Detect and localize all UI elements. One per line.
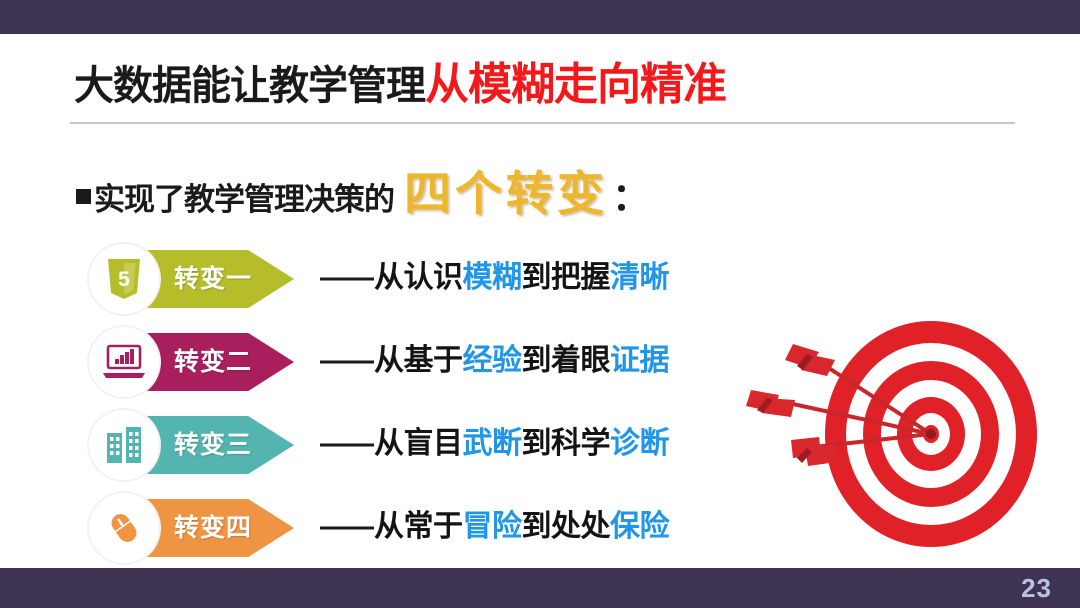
- row-seg-1: 从常于: [374, 510, 463, 543]
- row-dash: ——: [320, 427, 368, 460]
- subtitle-colon: ：: [612, 177, 650, 219]
- bullet-square-icon: [76, 189, 91, 204]
- row-seg-2-highlight: 冒险: [463, 510, 522, 543]
- subtitle: 实现了教学管理决策的四个转变：: [76, 155, 650, 224]
- row-seg-3: 到处处: [522, 510, 611, 543]
- list-item: 转变一 5 ——从认识模糊到把握清晰: [0, 238, 720, 321]
- transformation-list: 转变一 5 ——从认识模糊到把握清晰 转变二: [0, 238, 720, 570]
- row-seg-3: 到把握: [522, 261, 611, 294]
- row-seg-2-highlight: 模糊: [463, 261, 522, 294]
- page-number: 23: [1021, 573, 1052, 604]
- list-item: 转变三 ——从盲目武断: [0, 404, 720, 487]
- title-black-text: 大数据能让教学管理: [74, 64, 425, 108]
- svg-text:5: 5: [118, 268, 130, 291]
- dartboard-with-arrows-image: [735, 318, 1055, 553]
- top-band: [0, 0, 1080, 34]
- row-description: ——从常于冒险到处处保险: [320, 498, 669, 556]
- chevron-label: 转变四: [158, 499, 268, 557]
- row-seg-4-highlight: 证据: [610, 344, 669, 377]
- buildings-icon: [87, 408, 161, 482]
- list-item: 转变四 ——从常于冒险到处处保险: [0, 487, 720, 570]
- row-seg-1: 从基于: [374, 344, 463, 377]
- row-seg-2-highlight: 经验: [463, 344, 522, 377]
- row-dash: ——: [320, 344, 368, 377]
- row-seg-4-highlight: 诊断: [610, 427, 669, 460]
- row-description: ——从基于经验到着眼证据: [320, 332, 669, 390]
- html5-shield-icon: 5: [87, 242, 161, 316]
- row-description: ——从认识模糊到把握清晰: [320, 249, 669, 307]
- row-dash: ——: [320, 261, 368, 294]
- page-title: 大数据能让教学管理从模糊走向精准: [74, 48, 726, 112]
- title-divider: [70, 122, 1015, 124]
- row-seg-3: 到科学: [522, 427, 611, 460]
- row-seg-1: 从盲目: [374, 427, 463, 460]
- slide: 大数据能让教学管理从模糊走向精准 实现了教学管理决策的四个转变： 转变一 5 —…: [0, 0, 1080, 608]
- row-seg-2-highlight: 武断: [463, 427, 522, 460]
- subtitle-gold-text: 四个转变: [404, 167, 608, 220]
- row-dash: ——: [320, 510, 368, 543]
- laptop-chart-icon: [87, 325, 161, 399]
- chevron-label: 转变三: [158, 416, 268, 474]
- bottom-band: 23: [0, 568, 1080, 608]
- subtitle-black-text: 实现了教学管理决策的: [94, 182, 394, 217]
- row-seg-4-highlight: 清晰: [610, 261, 669, 294]
- chevron-label: 转变二: [158, 333, 268, 391]
- row-seg-4-highlight: 保险: [610, 510, 669, 543]
- row-seg-1: 从认识: [374, 261, 463, 294]
- chevron-label: 转变一: [158, 250, 268, 308]
- title-red-text: 从模糊走向精准: [425, 60, 726, 109]
- row-description: ——从盲目武断到科学诊断: [320, 415, 669, 473]
- row-seg-3: 到着眼: [522, 344, 611, 377]
- computer-mouse-icon: [87, 491, 161, 565]
- list-item: 转变二 ——从基于经验到着眼证据: [0, 321, 720, 404]
